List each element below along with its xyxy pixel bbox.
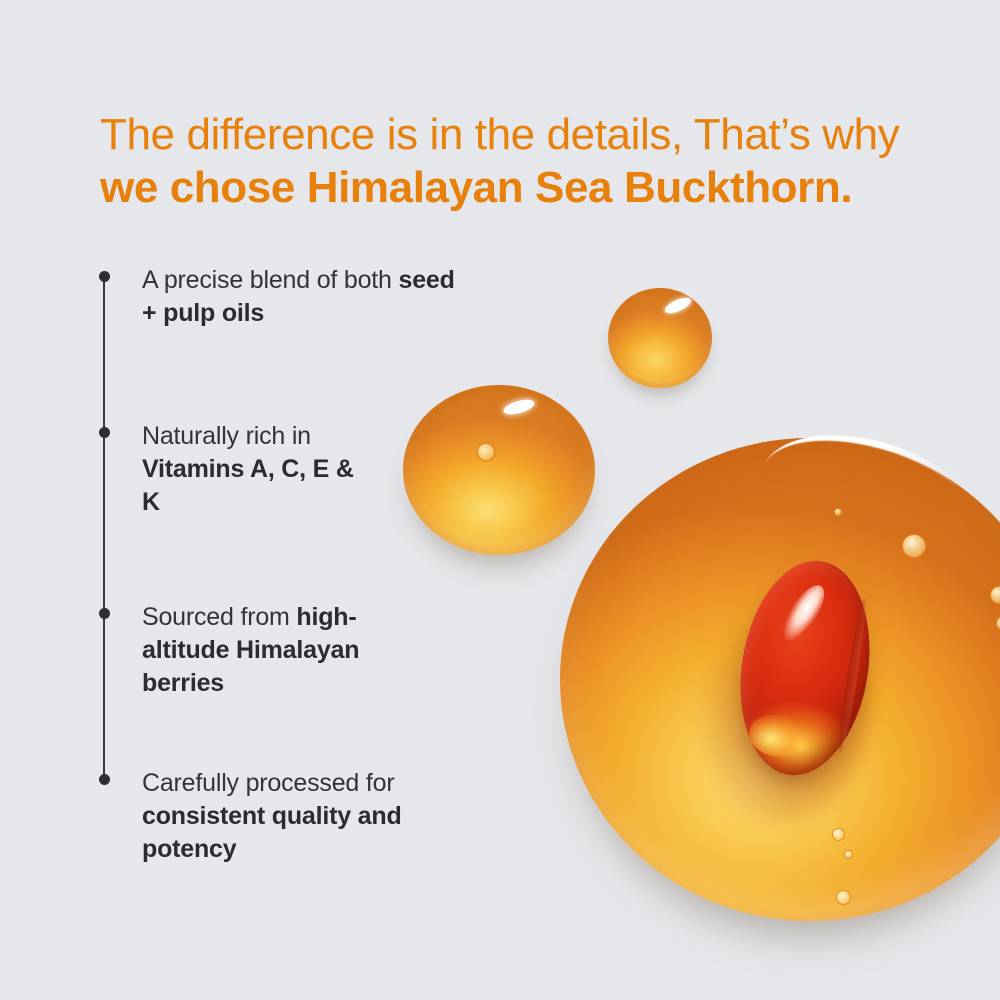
droplet-bubble bbox=[836, 890, 851, 905]
bullet-dot bbox=[99, 271, 110, 282]
bullet-item-4: Carefully processed for consistent quali… bbox=[142, 767, 462, 866]
droplet-bubble bbox=[834, 508, 842, 516]
droplet-rim bbox=[403, 385, 595, 555]
bullet-text-lead: Carefully processed for bbox=[142, 769, 394, 797]
promo-graphic: The difference is in the details, That’s… bbox=[0, 0, 1000, 1000]
softgel-capsule bbox=[742, 560, 868, 776]
capsule-body bbox=[726, 551, 884, 784]
droplet-bubble bbox=[476, 442, 496, 462]
bullet-text-emphasis: consistent quality and potency bbox=[142, 802, 402, 863]
oil-droplet-small bbox=[608, 288, 712, 388]
oil-droplet-medium bbox=[403, 385, 595, 555]
bullet-dot bbox=[99, 427, 110, 438]
bullet-item-2: Naturally rich in Vitamins A, C, E & K bbox=[142, 420, 362, 519]
capsule-glow bbox=[746, 710, 808, 760]
bullet-item-3: Sourced from high-altitude Himalayan ber… bbox=[142, 601, 422, 700]
headline-line-1: The difference is in the details, That’s… bbox=[100, 108, 950, 161]
capsule-specular-highlight bbox=[775, 579, 832, 647]
capsule-seam bbox=[835, 598, 869, 753]
bullet-item-1: A precise blend of both seed + pulp oils bbox=[142, 264, 472, 330]
bullet-text-lead: A precise blend of both bbox=[142, 266, 399, 294]
droplet-rim bbox=[608, 288, 712, 388]
bullet-text-emphasis: Vitamins A, C, E & K bbox=[142, 455, 354, 516]
bullet-dot bbox=[99, 774, 110, 785]
droplet-bubble bbox=[844, 850, 853, 859]
bullet-connector-line bbox=[103, 276, 105, 779]
droplet-bubble bbox=[902, 534, 926, 558]
bullet-dot bbox=[99, 608, 110, 619]
headline: The difference is in the details, That’s… bbox=[100, 108, 950, 214]
bullet-text-lead: Sourced from bbox=[142, 603, 296, 631]
headline-line-2: we chose Himalayan Sea Buckthorn. bbox=[100, 161, 950, 214]
bullet-text-lead: Naturally rich in bbox=[142, 422, 311, 450]
droplet-bubble bbox=[832, 828, 845, 841]
